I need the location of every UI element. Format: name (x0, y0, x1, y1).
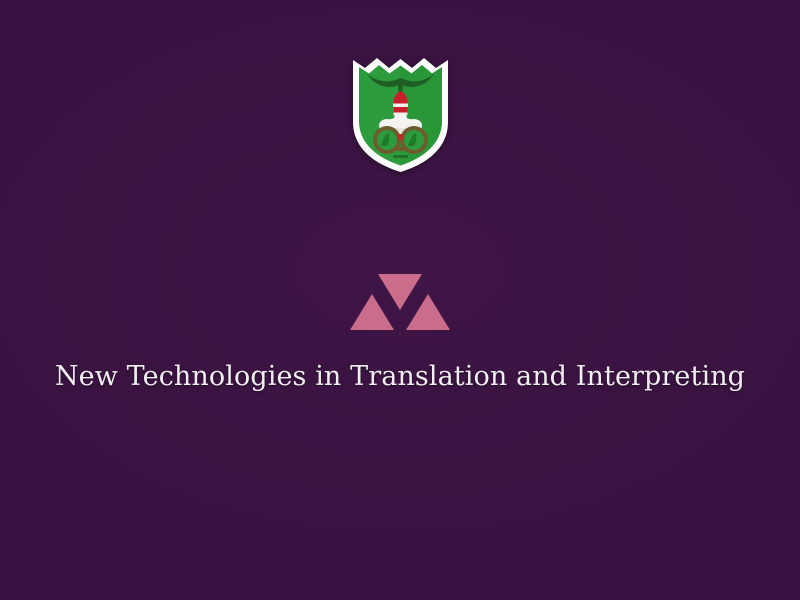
pink-triangles-logo-icon (350, 270, 450, 334)
university-crest-icon (343, 50, 458, 175)
logo-container (0, 268, 800, 336)
title-slide: New Technologies in Translation and Inte… (0, 0, 800, 600)
title-container: New Technologies in Translation and Inte… (0, 352, 800, 400)
crest-container (0, 50, 800, 175)
page-title: New Technologies in Translation and Inte… (55, 363, 745, 390)
